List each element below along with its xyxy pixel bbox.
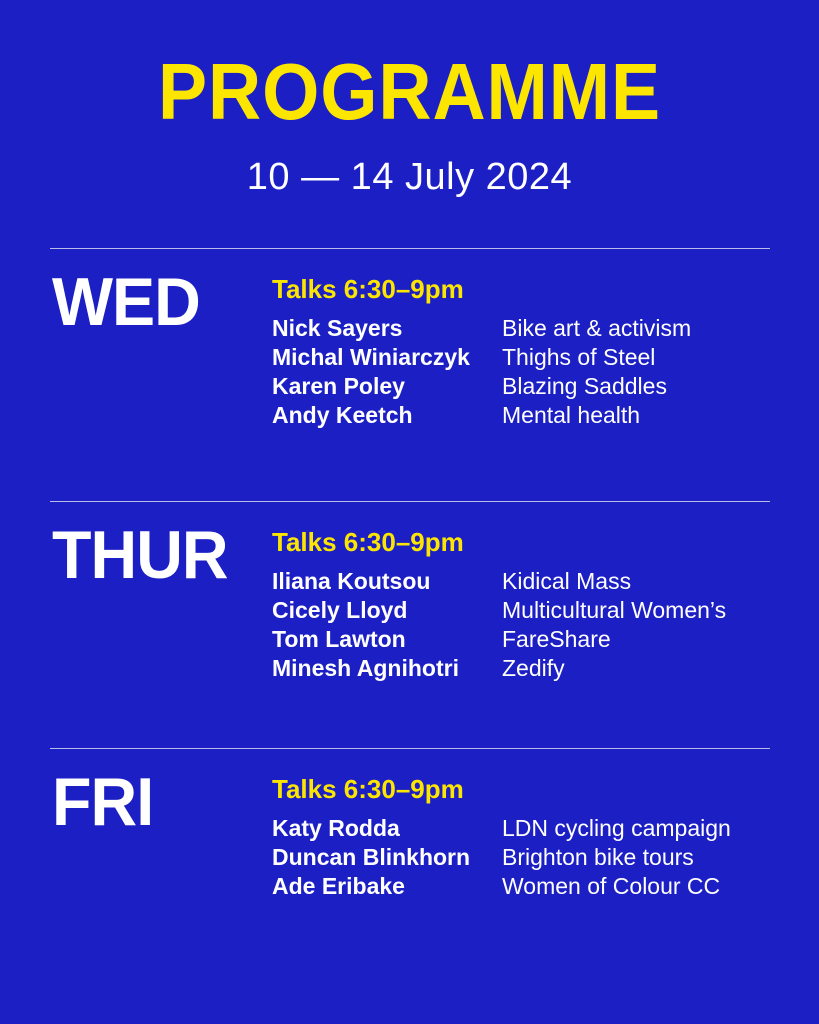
talks-heading: Talks 6:30–9pm xyxy=(272,274,792,304)
talks-heading: Talks 6:30–9pm xyxy=(272,527,792,557)
talk-speaker: Nick Sayers xyxy=(272,314,502,343)
talk-topic: Thighs of Steel xyxy=(502,343,655,372)
talk-speaker: Duncan Blinkhorn xyxy=(272,843,502,872)
day-label-fri: Fri xyxy=(52,770,153,834)
talk-speaker: Cicely Lloyd xyxy=(272,596,502,625)
talk-topic: FareShare xyxy=(502,625,611,654)
section-body: Wed Talks 6:30–9pm Nick Sayers Bike art … xyxy=(0,248,819,470)
talk-topic: Zedify xyxy=(502,654,565,683)
talk-topic: Women of Colour CC xyxy=(502,872,720,901)
day-section-thur: Thur Talks 6:30–9pm Iliana Koutsou Kidic… xyxy=(0,501,819,723)
list-item: Minesh Agnihotri Zedify xyxy=(272,654,792,683)
talk-speaker: Karen Poley xyxy=(272,372,502,401)
day-section-fri: Fri Talks 6:30–9pm Katy Rodda LDN cyclin… xyxy=(0,748,819,970)
talk-speaker: Tom Lawton xyxy=(272,625,502,654)
talk-topic: Brighton bike tours xyxy=(502,843,694,872)
programme-poster: Programme 10 — 14 July 2024 Wed Talks 6:… xyxy=(0,0,819,1024)
section-body: Fri Talks 6:30–9pm Katy Rodda LDN cyclin… xyxy=(0,748,819,970)
section-body: Thur Talks 6:30–9pm Iliana Koutsou Kidic… xyxy=(0,501,819,723)
page-title: Programme xyxy=(33,52,786,132)
list-item: Katy Rodda LDN cycling campaign xyxy=(272,814,792,843)
list-item: Tom Lawton FareShare xyxy=(272,625,792,654)
talks-list: Nick Sayers Bike art & activism Michal W… xyxy=(272,314,792,430)
date-range: 10 — 14 July 2024 xyxy=(0,156,819,198)
talk-speaker: Ade Eribake xyxy=(272,872,502,901)
list-item: Nick Sayers Bike art & activism xyxy=(272,314,792,343)
talk-topic: LDN cycling campaign xyxy=(502,814,731,843)
list-item: Cicely Lloyd Multicultural Women’s xyxy=(272,596,792,625)
talk-speaker: Katy Rodda xyxy=(272,814,502,843)
talk-speaker: Minesh Agnihotri xyxy=(272,654,502,683)
list-item: Iliana Koutsou Kidical Mass xyxy=(272,567,792,596)
section-content: Talks 6:30–9pm Iliana Koutsou Kidical Ma… xyxy=(272,527,792,683)
talk-topic: Kidical Mass xyxy=(502,567,631,596)
talk-topic: Blazing Saddles xyxy=(502,372,667,401)
talk-speaker: Andy Keetch xyxy=(272,401,502,430)
talk-topic: Bike art & activism xyxy=(502,314,691,343)
talk-speaker: Michal Winiarczyk xyxy=(272,343,502,372)
day-label-thur: Thur xyxy=(52,523,228,587)
section-content: Talks 6:30–9pm Katy Rodda LDN cycling ca… xyxy=(272,774,792,901)
talks-heading: Talks 6:30–9pm xyxy=(272,774,792,804)
list-item: Andy Keetch Mental health xyxy=(272,401,792,430)
list-item: Ade Eribake Women of Colour CC xyxy=(272,872,792,901)
day-section-wed: Wed Talks 6:30–9pm Nick Sayers Bike art … xyxy=(0,248,819,470)
list-item: Michal Winiarczyk Thighs of Steel xyxy=(272,343,792,372)
poster-header: Programme 10 — 14 July 2024 xyxy=(0,52,819,198)
talk-topic: Mental health xyxy=(502,401,640,430)
talks-list: Katy Rodda LDN cycling campaign Duncan B… xyxy=(272,814,792,901)
talks-list: Iliana Koutsou Kidical Mass Cicely Lloyd… xyxy=(272,567,792,683)
day-label-wed: Wed xyxy=(52,270,200,334)
list-item: Duncan Blinkhorn Brighton bike tours xyxy=(272,843,792,872)
section-content: Talks 6:30–9pm Nick Sayers Bike art & ac… xyxy=(272,274,792,430)
talk-topic: Multicultural Women’s xyxy=(502,596,726,625)
talk-speaker: Iliana Koutsou xyxy=(272,567,502,596)
list-item: Karen Poley Blazing Saddles xyxy=(272,372,792,401)
